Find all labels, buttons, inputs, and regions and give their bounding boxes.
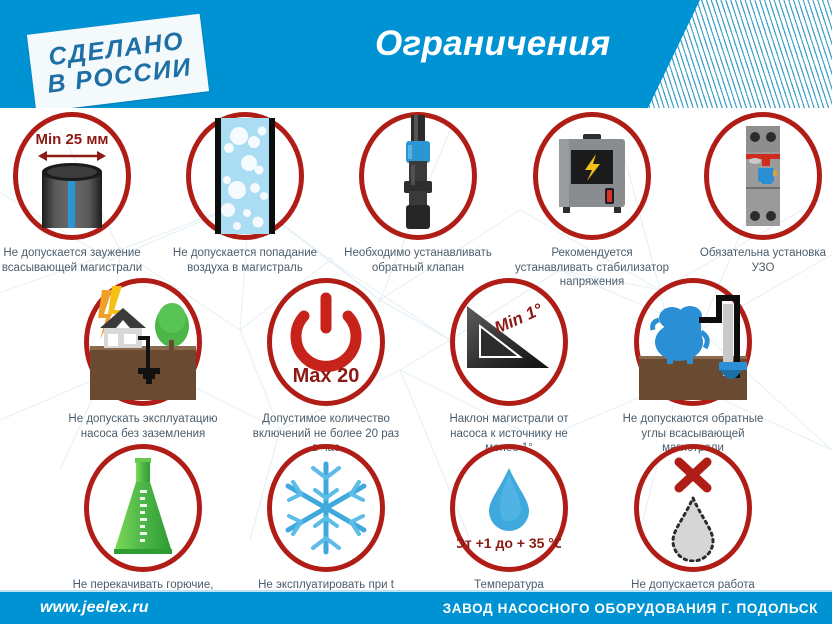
air-in-pipe-icon [197, 118, 293, 234]
icon-circle [359, 112, 477, 240]
svg-text:От +1 до + 35 °C: От +1 до + 35 °C [457, 535, 561, 551]
chemical-flask-icon [106, 456, 180, 560]
website-link[interactable]: www.jeelex.ru [40, 599, 149, 617]
svg-text:Min 25 мм: Min 25 мм [35, 131, 108, 148]
water-drop-icon: От +1 до + 35 °C [457, 456, 561, 560]
icon-row-1: Min 25 мм [0, 112, 832, 290]
page-title: Ограничения [375, 24, 611, 64]
item-voltage-stabilizer[interactable]: Рекомендуется устанавливать стабилизатор… [513, 112, 671, 290]
icon-circle [267, 444, 385, 572]
icon-row-2: Не допускать эксплуатацию насоса без заз… [0, 278, 832, 456]
item-caption: Не допускается попадание воздуха в магис… [167, 246, 323, 275]
item-caption: Обязательна установка УЗО [683, 246, 832, 275]
check-valve-icon [383, 115, 453, 237]
item-caption: Не допускается заужение всасывающей маги… [0, 246, 155, 275]
icon-circle: Min 1° [450, 278, 568, 406]
icon-circle [634, 444, 752, 572]
icon-circle: Max 20 [267, 278, 385, 406]
icon-circle [186, 112, 304, 240]
item-caption: Необходимо устанавливать обратный клапан [335, 246, 501, 275]
power-button-icon: Max 20 [276, 290, 376, 394]
item-rcd-breaker[interactable]: Обязательна установка УЗО [683, 112, 832, 290]
rcd-breaker-icon [732, 124, 794, 228]
item-caption: Не допускать эксплуатацию насоса без заз… [60, 412, 226, 441]
company-name: ЗАВОД НАСОСНОГО ОБОРУДОВАНИЯ Г. ПОДОЛЬСК [443, 601, 818, 616]
item-reverse-angle[interactable]: Не допускаются обратные углы всасывающей… [614, 278, 772, 456]
item-pipe-diameter[interactable]: Min 25 мм [0, 112, 155, 290]
svg-text:Min 1°: Min 1° [492, 300, 546, 338]
icon-circle [84, 278, 202, 406]
voltage-stabilizer-icon [549, 130, 635, 222]
icon-circle [84, 444, 202, 572]
dry-run-icon [651, 454, 735, 562]
icon-circle: Min 25 мм [13, 112, 131, 240]
item-check-valve[interactable]: Необходимо устанавливать обратный клапан [335, 112, 501, 290]
icon-circle [533, 112, 651, 240]
grounding-house-icon [90, 284, 196, 400]
page-footer: www.jeelex.ru ЗАВОД НАСОСНОГО ОБОРУДОВАН… [0, 592, 832, 624]
item-grounding[interactable]: Не допускать эксплуатацию насоса без заз… [60, 278, 226, 456]
item-air-in-pipe[interactable]: Не допускается попадание воздуха в магис… [167, 112, 323, 290]
page-header: Ограничения СДЕЛАНО В РОССИИ [0, 0, 832, 108]
item-max-starts[interactable]: Max 20 Допустимое количество включений н… [248, 278, 404, 456]
icon-circle: От +1 до + 35 °C [450, 444, 568, 572]
poster-root: Ограничения СДЕЛАНО В РОССИИ Min 25 мм [0, 0, 832, 624]
svg-text:Max 20: Max 20 [293, 365, 360, 387]
pipe-diameter-icon: Min 25 мм [20, 120, 124, 232]
item-slope[interactable]: Min 1° Наклон магистрали от насоса к ист… [426, 278, 592, 456]
slope-ruler-icon: Min 1° [457, 290, 561, 394]
icon-circle [634, 278, 752, 406]
snowflake-icon [277, 458, 375, 558]
reverse-angle-pump-icon [639, 284, 747, 400]
icon-circle [704, 112, 822, 240]
